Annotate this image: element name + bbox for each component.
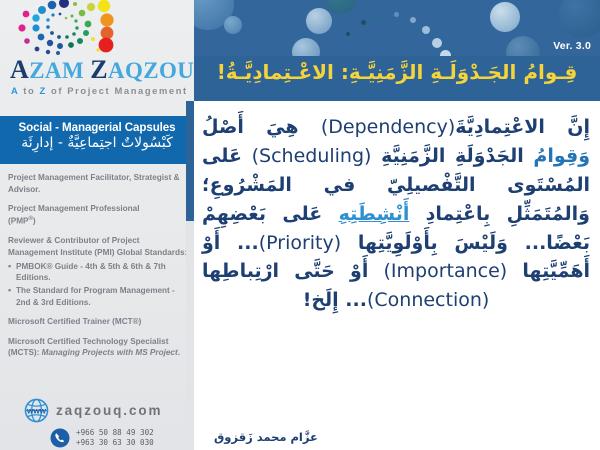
phone-number-1: +966 50 88 49 302 bbox=[76, 428, 154, 438]
brand-name: AZAM ZAQZOUQ bbox=[10, 55, 190, 85]
bubble-decor bbox=[432, 38, 442, 48]
content-panel: إِنَّ الاعْتِمادِيَّةَ(Dependency) هِيَ … bbox=[194, 101, 600, 450]
accent-bar bbox=[186, 101, 194, 221]
bullet-program-standard: The Standard for Program Management - 2n… bbox=[8, 285, 188, 308]
body-run-4: الجَدْوَلَةِ الزَّمَنِيَّةِ bbox=[371, 145, 533, 167]
sidebar: AZAM ZAQZOUQ A to Z of Project Managemen… bbox=[0, 0, 194, 450]
phone-row: +966 50 88 49 302 +963 30 63 30 030 bbox=[50, 428, 154, 449]
body-run-5: (Scheduling) bbox=[252, 145, 372, 167]
brand-logo-block: AZAM ZAQZOUQ A to Z of Project Managemen… bbox=[0, 0, 194, 108]
tagline-to: to bbox=[19, 85, 39, 96]
bubble-decor bbox=[410, 17, 416, 23]
bubble-decor bbox=[422, 26, 430, 34]
credential-mcts: Microsoft Certified Technology Specialis… bbox=[8, 336, 188, 359]
body-run-14: ... إِلَخ! bbox=[303, 289, 367, 311]
tagline-a: A bbox=[11, 85, 19, 96]
brand-name-azam: ZAM bbox=[29, 58, 84, 83]
capsule-title-english: Social - Managerial Capsules bbox=[8, 121, 186, 134]
body-run-11: (Importance) bbox=[384, 260, 508, 282]
body-run-13: (Connection) bbox=[367, 289, 489, 311]
body-run-7: أَنْشِطَتِهِ bbox=[339, 203, 410, 225]
bubble-decor bbox=[506, 36, 540, 56]
body-run-9: (Priority) bbox=[259, 232, 341, 254]
phone-icon bbox=[50, 428, 70, 448]
body-run-3: وَقِوامُ bbox=[533, 145, 590, 167]
bullet-pmbok: PMBOK® Guide - 4th & 5th & 6th & 7th Edi… bbox=[8, 261, 188, 284]
bubble-decor bbox=[326, 0, 356, 14]
brand-initial-z: Z bbox=[90, 55, 108, 84]
version-label: Ver. 3.0 bbox=[553, 40, 591, 52]
body-run-1: (Dependency) bbox=[321, 116, 455, 138]
svg-text:www: www bbox=[26, 406, 47, 415]
website-url[interactable]: zaqzouq.com bbox=[56, 403, 162, 418]
header-bubble-band: Ver. 3.0 bbox=[194, 0, 600, 56]
phone-numbers: +966 50 88 49 302 +963 30 63 30 030 bbox=[76, 428, 154, 449]
bubble-decor bbox=[224, 16, 242, 34]
body-run-12: أَوْ حَتَّى ارْتِباطِها bbox=[202, 260, 384, 282]
author-signature: عزَّام محمد زَقزوق bbox=[214, 430, 318, 444]
bubble-decor bbox=[490, 2, 520, 32]
www-globe-icon: www bbox=[24, 398, 49, 423]
bubble-decor bbox=[559, 0, 600, 38]
body-run-0: إِنَّ الاعْتِمادِيَّةَ bbox=[455, 116, 590, 138]
bubble-decor bbox=[306, 8, 332, 34]
credential-facilitator: Project Management Facilitator, Strategi… bbox=[8, 172, 188, 195]
tagline-rest: of Project Management bbox=[47, 85, 188, 96]
tagline-z: Z bbox=[40, 85, 47, 96]
body-run-2: هِيَ أَصْلُ bbox=[202, 116, 321, 138]
standards-bullet-list: PMBOK® Guide - 4th & 5th & 6th & 7th Edi… bbox=[8, 261, 188, 309]
bubble-decor bbox=[377, 16, 382, 21]
slide-canvas: AZAM ZAQZOUQ A to Z of Project Managemen… bbox=[0, 0, 600, 450]
title-bar: قِـوامُ الجَـدْوَلَـةِ الزَّمَنِيَّـةِ: … bbox=[194, 56, 600, 101]
bubble-decor bbox=[346, 32, 350, 36]
credential-pmp: Project Management Professional (PMP®) bbox=[8, 203, 188, 227]
bubble-decor bbox=[292, 38, 320, 56]
page-title: قِـوامُ الجَـدْوَلَـةِ الزَّمَنِيَّـةِ: … bbox=[194, 60, 600, 84]
website-row[interactable]: www zaqzouq.com bbox=[24, 398, 162, 423]
capsule-banner: Social - Managerial Capsules كَبْسُولاتٌ… bbox=[0, 116, 194, 164]
credentials-list: Project Management Facilitator, Strategi… bbox=[8, 172, 188, 367]
credential-mct: Microsoft Certified Trainer (MCT®) bbox=[8, 316, 188, 328]
body-paragraph: إِنَّ الاعْتِمادِيَّةَ(Dependency) هِيَ … bbox=[202, 113, 590, 315]
credential-pmi-reviewer: Reviewer & Contributor of Project Manage… bbox=[8, 235, 188, 258]
capsule-title-arabic: كَبْسُولاتٌ اجتِماعِيَّةٌ - إدارِئَة bbox=[8, 135, 186, 151]
bubble-decor bbox=[394, 12, 399, 17]
brand-tagline: A to Z of Project Management bbox=[11, 85, 188, 96]
rainbow-spiral-dots-logo bbox=[14, 0, 140, 56]
brand-initial-a: A bbox=[10, 55, 29, 84]
phone-number-2: +963 30 63 30 030 bbox=[76, 438, 154, 448]
bubble-decor bbox=[361, 20, 366, 25]
